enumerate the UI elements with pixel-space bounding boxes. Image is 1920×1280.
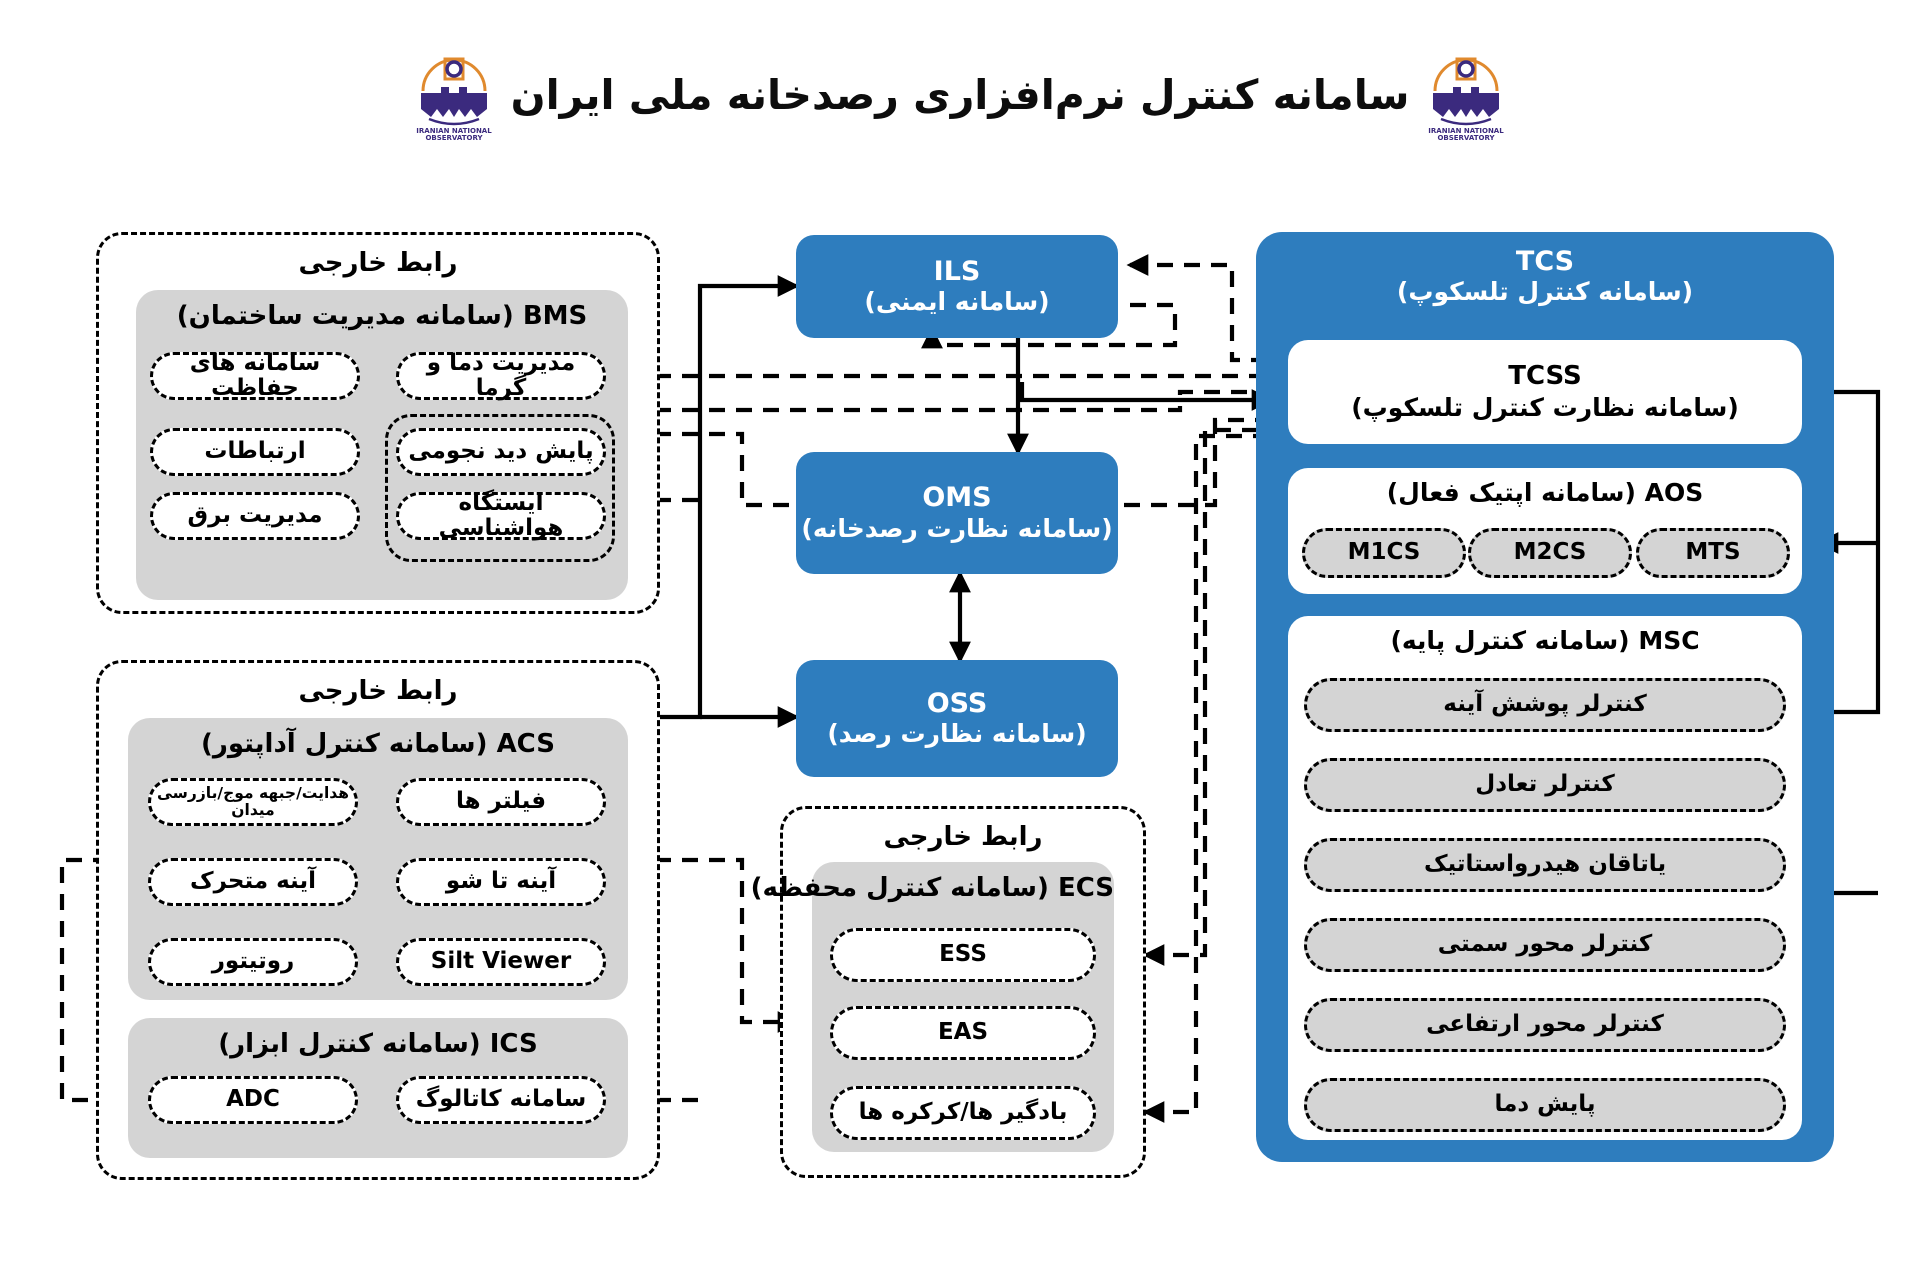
aos-item-mts[interactable]: MTS <box>1636 528 1790 578</box>
ecs-item-windbreaks-louvers[interactable]: بادگیر ها/کرکره ها <box>830 1086 1096 1140</box>
msc-item-temperature-monitoring[interactable]: پایش دما <box>1304 1078 1786 1132</box>
acs-item-rotator[interactable]: روتیتور <box>148 938 358 986</box>
node-oss[interactable]: OSS (سامانه نظارت رصد) <box>796 660 1118 777</box>
bms-item-protection-systems[interactable]: سامانه های حفاظت <box>150 352 360 400</box>
ics-item-catalog-system[interactable]: سامانه کاتالوگ <box>396 1076 606 1124</box>
msc-item-altitude-axis-controller[interactable]: کنترلر محور ارتفاعی <box>1304 998 1786 1052</box>
page-title: سامانه کنترل نرم‌افزاری رصدخانه ملی ایرا… <box>511 71 1410 119</box>
acs-item-filters[interactable]: فیلتر ها <box>396 778 606 826</box>
ils-label: (سامانه ایمنی) <box>864 287 1049 317</box>
bms-item-weather-station[interactable]: ایستگاه هواشناسی <box>396 492 606 540</box>
tcs-label: (سامانه کنترل تلسکوپ) <box>1256 277 1834 306</box>
acs-item-moving-mirror[interactable]: آینه متحرک <box>148 858 358 906</box>
page-header: IRANIAN NATIONAL OBSERVATORY سامانه کنتر… <box>0 40 1920 150</box>
tcs-abbr: TCS <box>1256 246 1834 277</box>
bms-item-astronomical-seeing[interactable]: پایش دید نجومی <box>396 428 606 476</box>
oms-abbr: OMS <box>922 482 991 513</box>
ics-item-adc[interactable]: ADC <box>148 1076 358 1124</box>
node-oms[interactable]: OMS (سامانه نظارت رصدخانه) <box>796 452 1118 574</box>
acs-item-guiding-wavefront-field[interactable]: هدایت/جبهه موج/بازرسی میدان <box>148 778 358 826</box>
iranian-national-observatory-logo-left: IRANIAN NATIONAL OBSERVATORY <box>415 47 493 143</box>
iranian-national-observatory-logo-right: IRANIAN NATIONAL OBSERVATORY <box>1427 47 1505 143</box>
aos-item-m1cs[interactable]: M1CS <box>1302 528 1466 578</box>
acs-external-label: رابط خارجی <box>99 663 657 706</box>
acs-item-folding-mirror[interactable]: آینه تا شو <box>396 858 606 906</box>
acs-group-title: ACS (سامانه کنترل آداپتور) <box>128 718 628 759</box>
msc-item-balance-controller[interactable]: کنترلر تعادل <box>1304 758 1786 812</box>
ecs-item-ess[interactable]: ESS <box>830 928 1096 982</box>
node-ils[interactable]: ILS (سامانه ایمنی) <box>796 235 1118 338</box>
oss-label: (سامانه نظارت رصد) <box>827 719 1086 749</box>
oss-abbr: OSS <box>927 688 988 719</box>
ils-abbr: ILS <box>934 256 981 287</box>
oms-label: (سامانه نظارت رصدخانه) <box>801 514 1112 544</box>
aos-title: AOS (سامانه اپتیک فعال) <box>1288 468 1802 507</box>
ecs-item-eas[interactable]: EAS <box>830 1006 1096 1060</box>
msc-item-azimuth-axis-controller[interactable]: کنترلر محور سمتی <box>1304 918 1786 972</box>
svg-text:OBSERVATORY: OBSERVATORY <box>1438 134 1496 142</box>
tcss-card[interactable]: TCSS (سامانه نظارت کنترل تلسکوپ) <box>1288 340 1802 444</box>
tcss-label: (سامانه نظارت کنترل تلسکوپ) <box>1351 392 1739 423</box>
ecs-group-title: ECS (سامانه کنترل محفظه) <box>812 862 1114 903</box>
msc-item-hydrostatic-bearing[interactable]: یاتاقان هیدرواستاتیک <box>1304 838 1786 892</box>
aos-item-m2cs[interactable]: M2CS <box>1468 528 1632 578</box>
bms-external-label: رابط خارجی <box>99 235 657 278</box>
bms-item-power-management[interactable]: مدیریت برق <box>150 492 360 540</box>
msc-title: MSC (سامانه کنترل پایه) <box>1288 616 1802 655</box>
tcs-header: TCS (سامانه کنترل تلسکوپ) <box>1256 232 1834 306</box>
bms-group-title: BMS (سامانه مدیریت ساختمان) <box>136 290 628 331</box>
bms-item-communications[interactable]: ارتباطات <box>150 428 360 476</box>
tcss-abbr: TCSS <box>1508 361 1582 392</box>
bms-item-temperature-heat[interactable]: مدیریت دما و گرما <box>396 352 606 400</box>
ics-group-title: ICS (سامانه کنترل ابزار) <box>128 1018 628 1059</box>
svg-text:OBSERVATORY: OBSERVATORY <box>425 134 483 142</box>
msc-item-mirror-cover-controller[interactable]: کنترلر پوشش آینه <box>1304 678 1786 732</box>
acs-item-silt-viewer[interactable]: Silt Viewer <box>396 938 606 986</box>
ecs-external-label: رابط خارجی <box>783 809 1143 852</box>
